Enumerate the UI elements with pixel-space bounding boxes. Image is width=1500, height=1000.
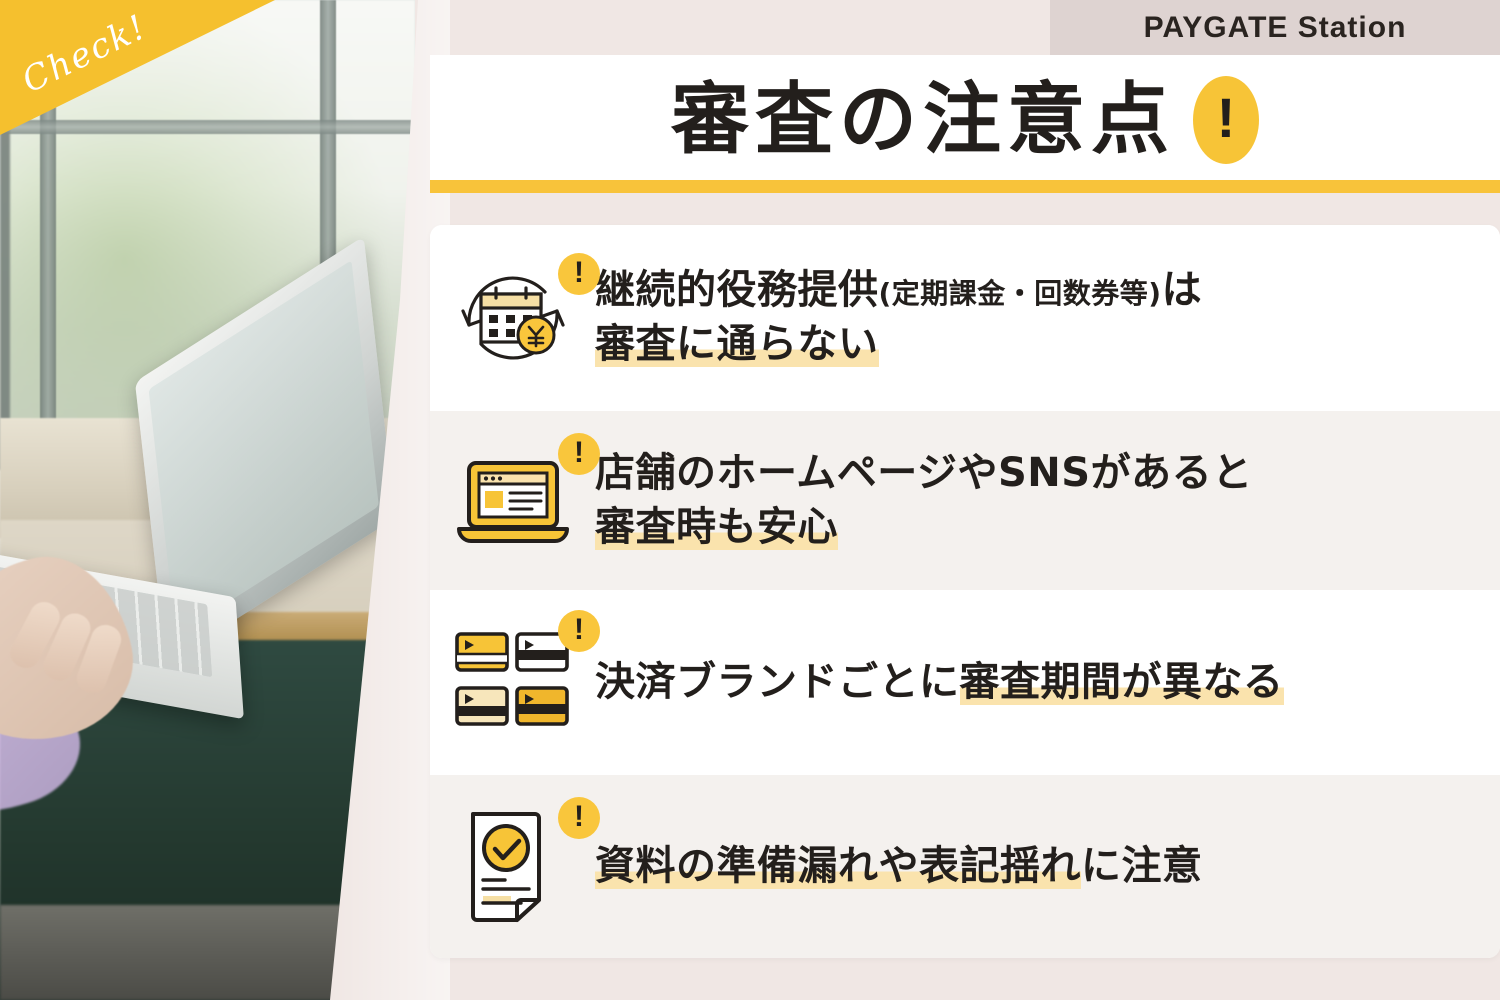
- content-area: PAYGATE Station 審査の注意点 ! !継続的役務提供(定: [415, 0, 1500, 1000]
- highlighted-text: 審査に通らない: [595, 321, 879, 367]
- document-check-icon: [463, 808, 563, 926]
- title-row: 審査の注意点 !: [671, 76, 1259, 164]
- highlighted-text: 資料の準備漏れや表記揺れ: [595, 843, 1081, 889]
- checklist-row-text: 資料の準備漏れや表記揺れに注意: [595, 840, 1500, 894]
- poster-stage: Check! PAYGATE Station 審査の注意点 !: [0, 0, 1500, 1000]
- checklist-text-line: 審査に通らない: [595, 318, 1470, 372]
- checklist-row: !店舗のホームページやSNSがあると審査時も安心: [430, 411, 1500, 590]
- checklist-text-line: 審査時も安心: [595, 501, 1470, 555]
- highlighted-text: 審査期間が異なる: [960, 659, 1284, 705]
- title-underline: [430, 180, 1500, 193]
- checklist-row: !資料の準備漏れや表記揺れに注意: [430, 775, 1500, 958]
- exclamation-glyph: !: [1217, 90, 1236, 146]
- checklist-text-line: 決済ブランドごとに審査期間が異なる: [595, 656, 1470, 710]
- brand-label: PAYGATE Station: [1144, 11, 1407, 45]
- alert-badge-icon: !: [558, 433, 600, 475]
- alert-badge-icon: !: [558, 797, 600, 839]
- checklist-row-text: 決済ブランドごとに審査期間が異なる: [595, 656, 1500, 710]
- plain-text: 決済ブランドごとに: [595, 659, 960, 705]
- window-mullion: [0, 120, 415, 134]
- checklist-panel: !継続的役務提供(定期課金・回数券等)は審査に通らない !店舗のホームページやS…: [430, 225, 1500, 958]
- credit-cards-icon: [453, 628, 573, 738]
- checklist-text-line: 継続的役務提供(定期課金・回数券等)は: [595, 264, 1470, 318]
- checklist-row: !決済ブランドごとに審査期間が異なる: [430, 590, 1500, 775]
- laptop-webpage-icon: [453, 451, 573, 551]
- checklist-row-text: 継続的役務提供(定期課金・回数券等)は審査に通らない: [595, 264, 1500, 371]
- alert-badge-glyph: !: [574, 438, 584, 468]
- plain-text: に注意: [1081, 843, 1203, 889]
- recurring-payment-calendar-icon: [453, 259, 573, 377]
- alert-badge-icon: !: [558, 253, 600, 295]
- checklist-row: !継続的役務提供(定期課金・回数券等)は審査に通らない: [430, 225, 1500, 411]
- alert-badge-glyph: !: [574, 615, 584, 645]
- plain-text: 店舗のホームページやSNSがあると: [595, 450, 1253, 496]
- title-card: 審査の注意点 !: [430, 55, 1500, 185]
- plain-text: (定期課金・回数券等): [879, 277, 1162, 310]
- brand-badge: PAYGATE Station: [1050, 0, 1500, 55]
- checklist-text-line: 店舗のホームページやSNSがあると: [595, 447, 1470, 501]
- plain-text: 継続的役務提供: [595, 267, 879, 313]
- checklist-text-line: 資料の準備漏れや表記揺れに注意: [595, 840, 1470, 894]
- plain-text: は: [1162, 267, 1203, 313]
- highlighted-text: 審査時も安心: [595, 504, 838, 550]
- alert-badge-glyph: !: [574, 258, 584, 288]
- alert-badge-icon: !: [558, 610, 600, 652]
- checklist-row-icon: [430, 225, 595, 411]
- alert-badge-glyph: !: [574, 802, 584, 832]
- checklist-row-text: 店舗のホームページやSNSがあると審査時も安心: [595, 447, 1500, 554]
- exclamation-icon: !: [1193, 76, 1259, 164]
- page-title: 審査の注意点: [671, 81, 1175, 159]
